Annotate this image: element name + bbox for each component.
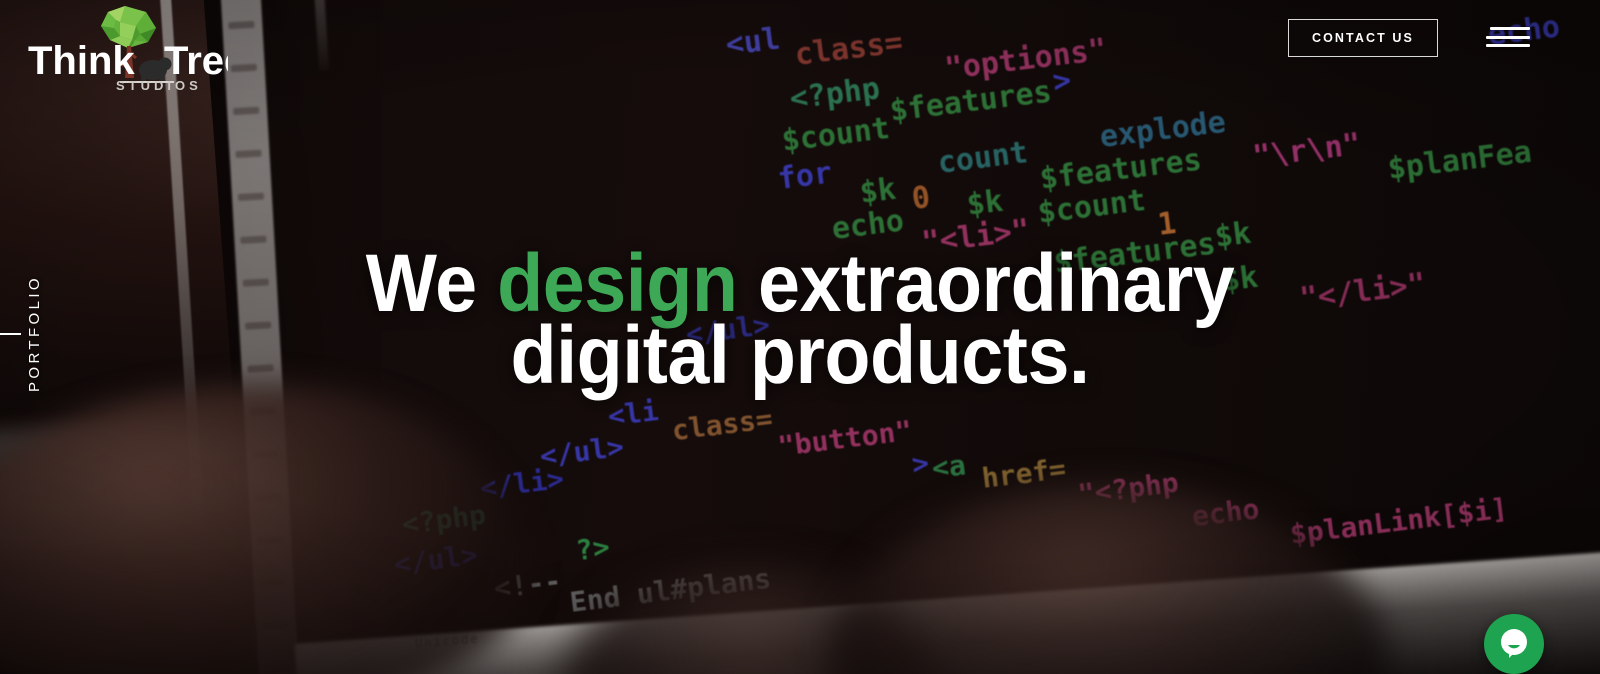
brand-logo[interactable]: Think Tree STUDIOS: [28, 2, 228, 98]
gutter-line-number: [235, 150, 261, 158]
svg-text:Tree: Tree: [164, 39, 228, 83]
gutter-line-number: [238, 193, 264, 201]
svg-text:STUDIOS: STUDIOS: [116, 78, 202, 93]
chat-widget-button[interactable]: [1484, 614, 1544, 674]
hamburger-line-2: [1486, 36, 1530, 39]
svg-text:Think: Think: [28, 39, 135, 83]
hamburger-menu-icon[interactable]: [1486, 24, 1534, 50]
hamburger-line-1: [1490, 27, 1530, 30]
gutter-line-number: [233, 107, 259, 115]
gutter-line-number: [245, 321, 271, 329]
gutter-line-number: [243, 278, 269, 286]
portfolio-dash: [0, 333, 21, 335]
chat-bubble-icon: [1497, 627, 1531, 661]
side-nav-portfolio[interactable]: PORTFOLIO: [26, 275, 43, 392]
think-tree-logo-icon: Think Tree STUDIOS: [28, 2, 228, 98]
contact-us-button[interactable]: CONTACT US: [1288, 19, 1438, 57]
site-header: Think Tree STUDIOS CONTACT US: [0, 0, 1600, 80]
hamburger-line-3: [1486, 44, 1530, 47]
gutter-line-number: [247, 364, 273, 372]
gutter-line-number: [240, 235, 266, 243]
hero-page: <ulclass="options"><?php$featuresexplode…: [0, 0, 1600, 674]
